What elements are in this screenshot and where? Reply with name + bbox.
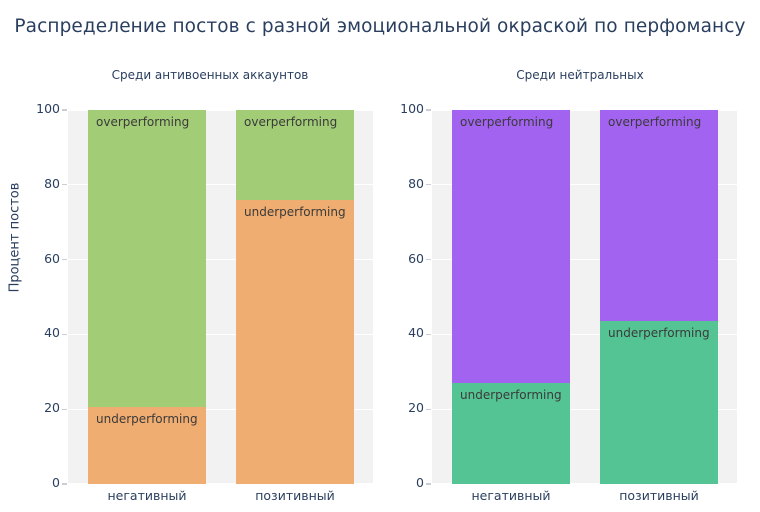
y-axis-tick-mark [62,334,67,335]
bar-segment-label: overperforming [244,115,337,129]
y-axis-tick-mark [426,259,431,260]
y-axis-tick-label: 40 [384,325,424,340]
page-title: Распределение постов с разной эмоциональ… [0,16,760,37]
bar-негативный[interactable]: underperformingoverperforming [88,110,206,484]
y-axis-tick-label: 20 [384,400,424,415]
bar-segment-label: overperforming [96,115,189,129]
chart-figure: Распределение постов с разной эмоциональ… [0,0,760,512]
y-axis-tick-mark [426,334,431,335]
y-axis-tick-label: 80 [384,176,424,191]
subplot-title-right: Среди нейтральных [420,68,740,82]
bar-позитивный[interactable]: underperformingoverperforming [236,110,354,484]
y-axis-tick-label: 20 [20,400,60,415]
bar-негативный[interactable]: underperformingoverperforming [452,110,570,484]
y-axis-tick-mark [62,109,67,110]
x-axis-tick-label: позитивный [600,488,718,503]
y-axis-tick-label: 100 [384,101,424,116]
bar-позитивный[interactable]: underperformingoverperforming [600,110,718,484]
x-axis-tick-label: негативный [452,488,570,503]
y-axis-tick-mark [62,483,67,484]
y-axis-tick-mark [426,483,431,484]
x-axis-tick-label: негативный [88,488,206,503]
bar-segment-label: underperforming [96,412,198,426]
bar-segment-label: underperforming [244,205,346,219]
y-axis-tick-mark [426,409,431,410]
bar-segment-overperforming[interactable]: overperforming [88,110,206,407]
bar-segment-underperforming[interactable]: underperforming [600,321,718,484]
bar-segment-overperforming[interactable]: overperforming [236,110,354,200]
subplot-right-plot-area: underperformingoverperformingunderperfor… [432,110,737,484]
y-axis-tick-label: 0 [384,475,424,490]
y-axis-tick-mark [62,409,67,410]
y-axis-tick-label: 60 [384,251,424,266]
y-axis-tick-label: 40 [20,325,60,340]
bar-segment-underperforming[interactable]: underperforming [236,200,354,484]
x-axis-line [68,484,373,485]
y-axis-tick-label: 100 [20,101,60,116]
subplot-title-left: Среди антивоенных аккаунтов [50,68,370,82]
bar-segment-underperforming[interactable]: underperforming [452,383,570,484]
y-axis-tick-mark [62,184,67,185]
y-axis-tick-mark [426,109,431,110]
subplot-left-plot-area: underperformingoverperformingunderperfor… [68,110,373,484]
bar-segment-label: underperforming [608,326,710,340]
bar-segment-underperforming[interactable]: underperforming [88,407,206,484]
bar-segment-label: overperforming [460,115,553,129]
y-axis-tick-label: 80 [20,176,60,191]
bar-segment-label: overperforming [608,115,701,129]
y-axis-tick-mark [62,259,67,260]
y-axis-label: Процент постов [8,138,23,338]
x-axis-line [432,484,737,485]
bar-segment-label: underperforming [460,388,562,402]
x-axis-tick-label: позитивный [236,488,354,503]
bar-segment-overperforming[interactable]: overperforming [452,110,570,383]
y-axis-tick-label: 60 [20,251,60,266]
y-axis-tick-mark [426,184,431,185]
bar-segment-overperforming[interactable]: overperforming [600,110,718,321]
y-axis-tick-label: 0 [20,475,60,490]
